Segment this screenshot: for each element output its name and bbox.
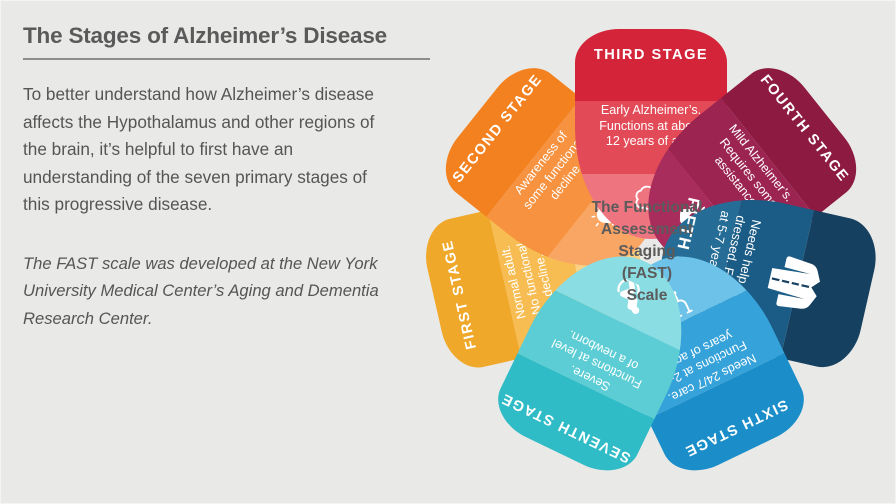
fast-scale-wheel: The Functional Assessment Staging (FAST)… (401, 1, 896, 504)
infographic-canvas: The Stages of Alzheimer’s Disease To bet… (0, 0, 896, 504)
stage-title: THIRD STAGE (575, 47, 727, 63)
title-divider (23, 58, 430, 60)
petal-band-outer (575, 29, 727, 101)
fast-scale-note: The FAST scale was developed at the New … (23, 250, 398, 333)
wheel-center-label: The Functional Assessment Staging (FAST)… (549, 197, 745, 307)
left-text-column: The Stages of Alzheimer’s Disease To bet… (23, 23, 415, 463)
page-title: The Stages of Alzheimer’s Disease (23, 23, 415, 49)
intro-paragraph: To better understand how Alzheimer’s dis… (23, 81, 393, 219)
